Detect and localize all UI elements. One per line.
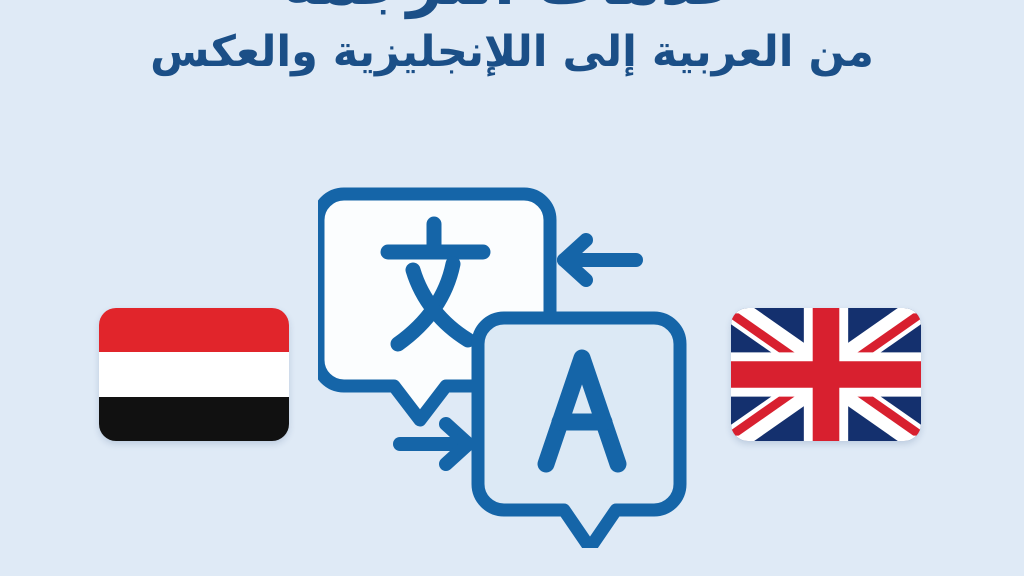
flag-stripe-black [99,397,289,441]
poster-canvas: خدمات الترجمة من العربية إلى اللإنجليزية… [0,0,1024,576]
union-jack-svg [731,308,921,441]
headline-block: خدمات الترجمة من العربية إلى اللإنجليزية… [0,0,1024,79]
translate-icon-svg [318,172,708,548]
arrow-right-icon [400,424,468,464]
page-subtitle: من العربية إلى اللإنجليزية والعكس [0,27,1024,79]
united-kingdom-flag [731,308,921,441]
target-speech-bubble [478,318,680,548]
flag-stripe-white [99,352,289,396]
page-title: خدمات الترجمة [0,0,1024,17]
translate-icon [318,172,708,548]
yemen-flag [99,308,289,441]
arrow-left-icon [564,240,636,280]
flag-stripe-red [99,308,289,352]
